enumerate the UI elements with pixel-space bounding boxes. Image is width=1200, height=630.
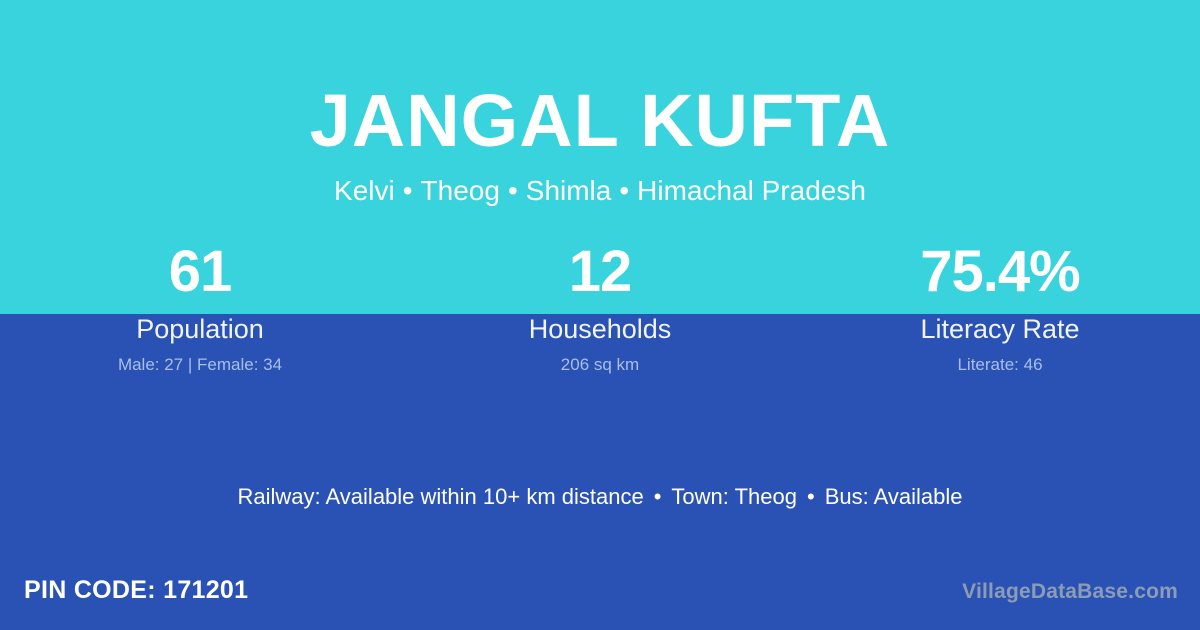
stat-sub-literacy: Literate: 46 xyxy=(800,356,1200,375)
pin-code-label: PIN CODE: 171201 xyxy=(24,576,248,605)
village-info-card: JANGAL KUFTA Kelvi•Theog•Shimla•Himachal… xyxy=(0,0,1200,630)
brand-watermark: VillageDataBase.com xyxy=(962,580,1178,604)
info-item-bus: Bus: Available xyxy=(825,484,963,509)
card-header: JANGAL KUFTA Kelvi•Theog•Shimla•Himachal… xyxy=(0,0,1200,207)
info-separator-icon: • xyxy=(797,484,825,510)
stat-block-literacy: 75.4% Literacy Rate Literate: 46 xyxy=(800,243,1200,374)
stat-sub-households: 206 sq km xyxy=(400,356,800,375)
info-separator-icon: • xyxy=(644,484,672,510)
location-part-village: Kelvi xyxy=(334,175,395,206)
stat-value-literacy: 75.4% xyxy=(800,243,1200,307)
amenities-info-bar: Railway: Available within 10+ km distanc… xyxy=(0,484,1200,510)
card-footer: PIN CODE: 171201 VillageDataBase.com xyxy=(0,572,1200,630)
statistics-row: 61 Population Male: 27 | Female: 34 12 H… xyxy=(0,243,1200,374)
stat-sub-population: Male: 27 | Female: 34 xyxy=(0,356,400,375)
page-title: JANGAL KUFTA xyxy=(0,84,1200,158)
location-part-tehsil: Theog xyxy=(421,175,500,206)
breadcrumb-separator-icon: • xyxy=(500,176,526,207)
stat-value-population: 61 xyxy=(0,243,400,307)
location-breadcrumb: Kelvi•Theog•Shimla•Himachal Pradesh xyxy=(0,176,1200,207)
info-item-town: Town: Theog xyxy=(671,484,797,509)
stat-label-literacy: Literacy Rate xyxy=(800,315,1200,345)
location-part-state: Himachal Pradesh xyxy=(637,175,866,206)
stat-label-population: Population xyxy=(0,315,400,345)
info-item-railway: Railway: Available within 10+ km distanc… xyxy=(238,484,644,509)
location-part-district: Shimla xyxy=(526,175,612,206)
breadcrumb-separator-icon: • xyxy=(611,176,637,207)
stat-value-households: 12 xyxy=(400,243,800,307)
breadcrumb-separator-icon: • xyxy=(395,176,421,207)
stat-block-population: 61 Population Male: 27 | Female: 34 xyxy=(0,243,400,374)
stat-block-households: 12 Households 206 sq km xyxy=(400,243,800,374)
stat-label-households: Households xyxy=(400,315,800,345)
